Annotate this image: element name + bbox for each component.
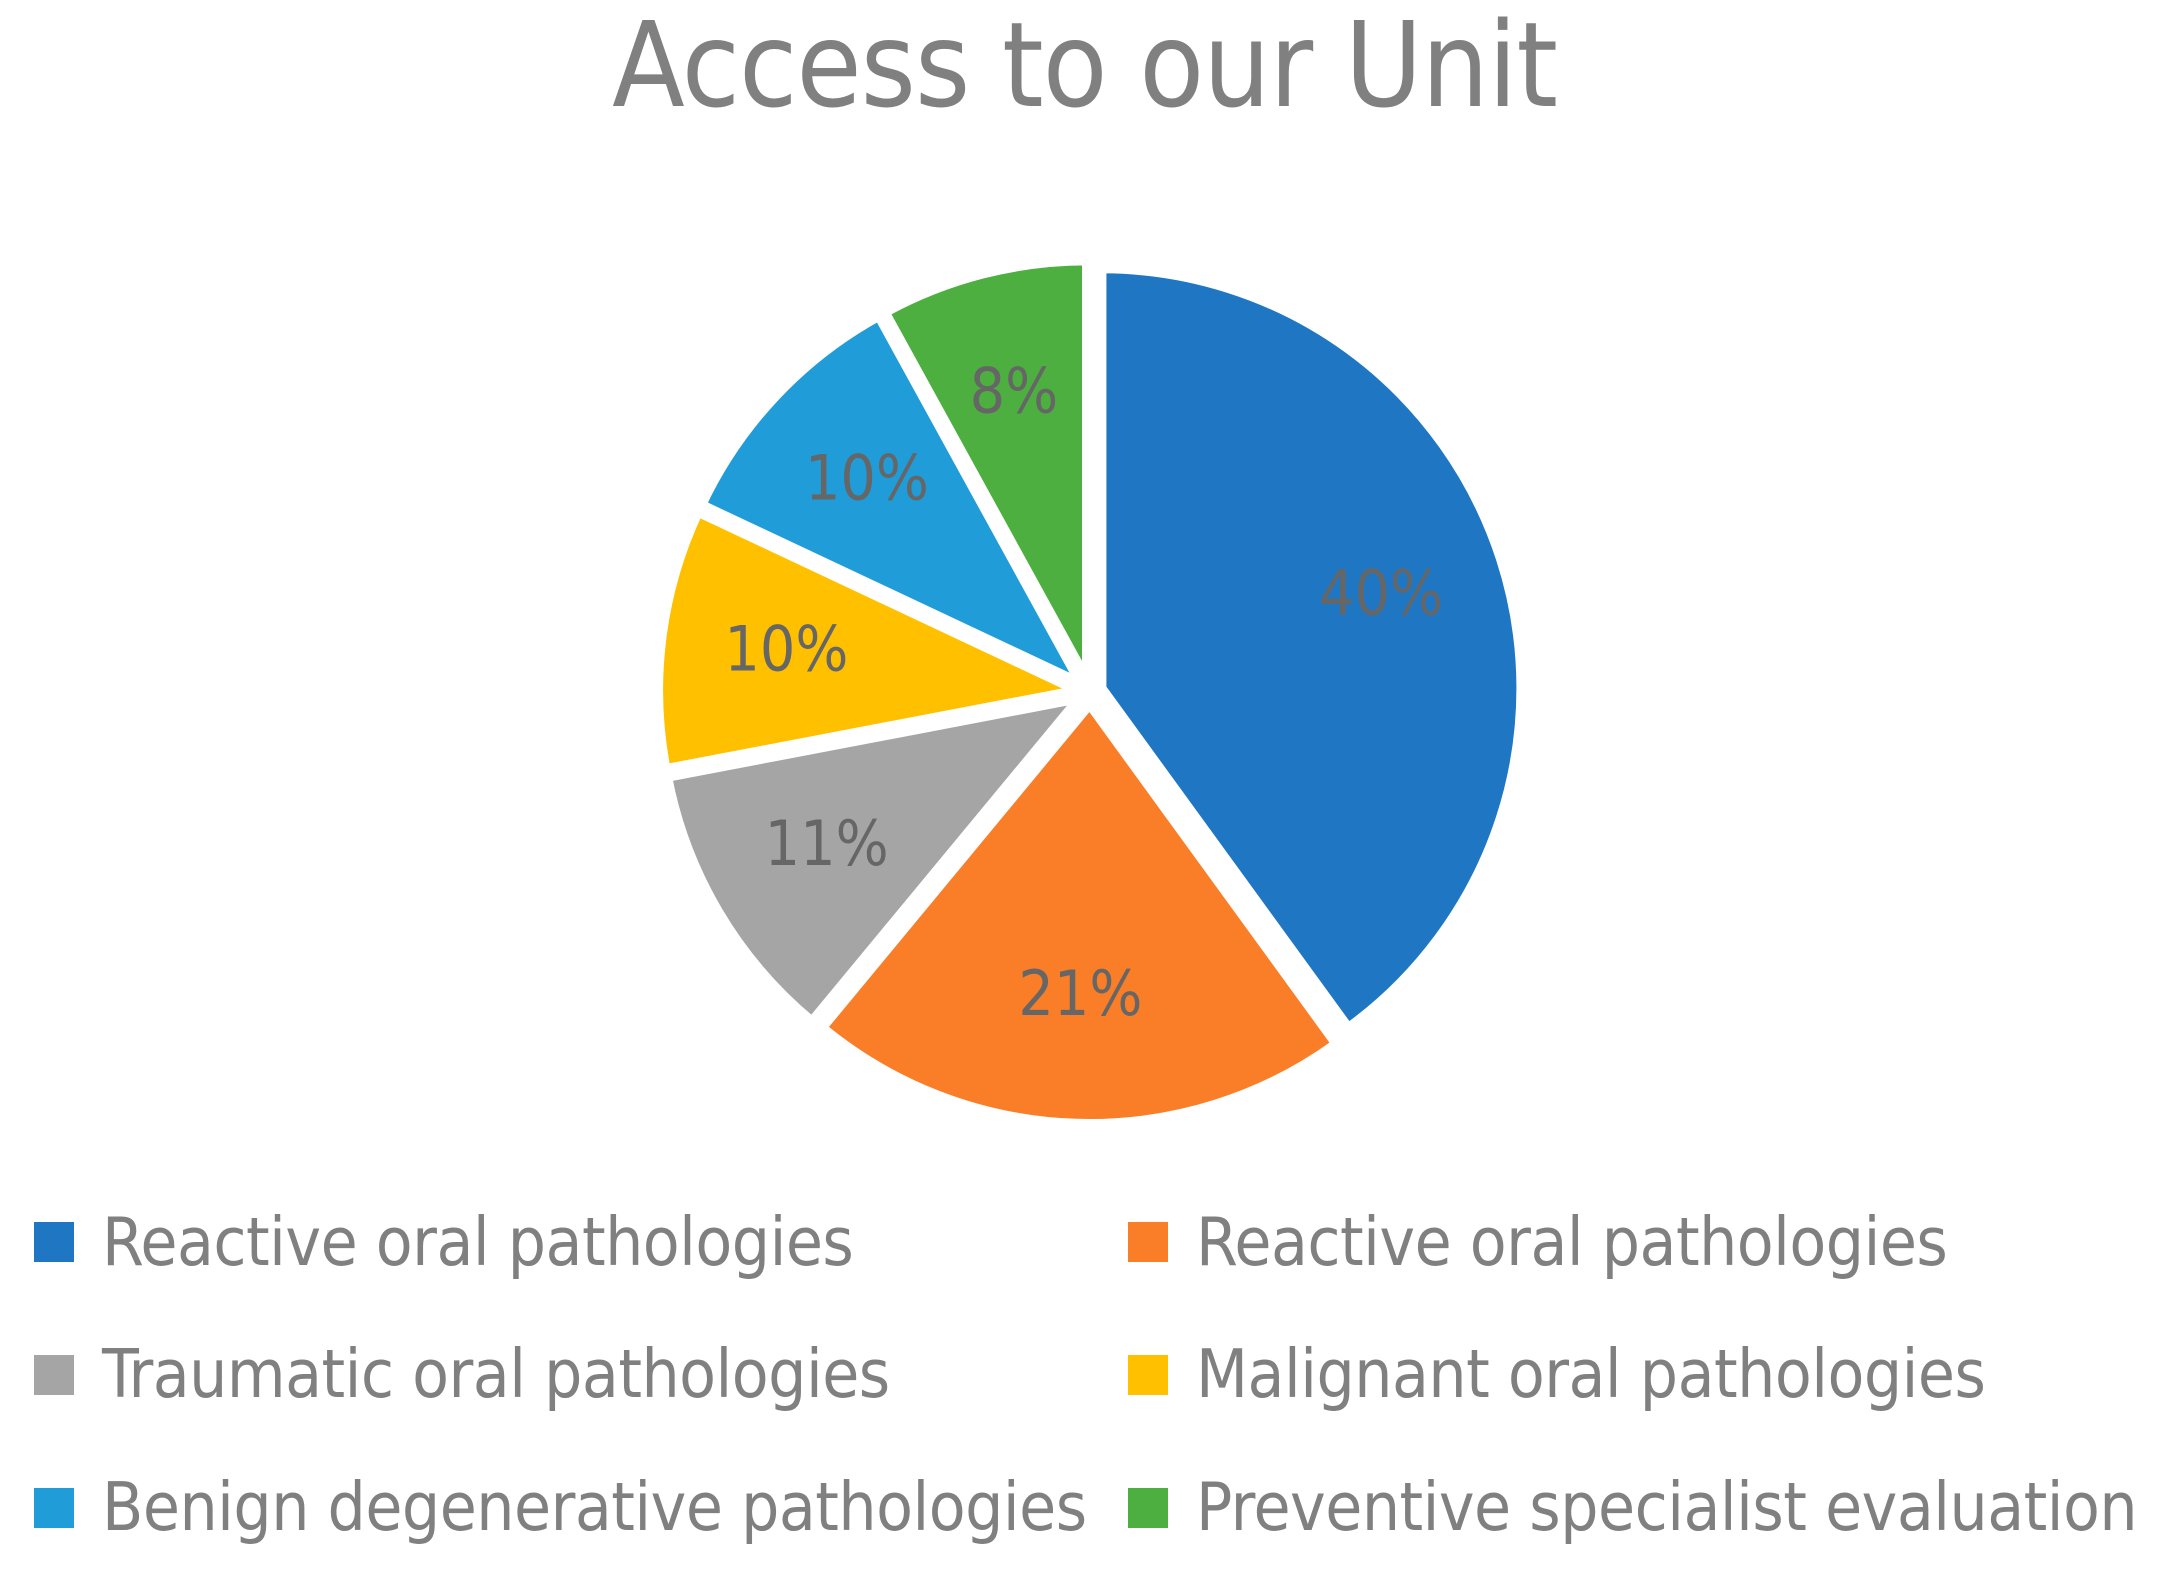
pie-chart: 40%21%11%10%10%8% bbox=[620, 222, 1560, 1162]
legend-item-benign-degenerative[interactable]: Benign degenerative pathologies bbox=[0, 1474, 1110, 1541]
legend-swatch-gray bbox=[34, 1355, 74, 1395]
legend-item-label: Benign degenerative pathologies bbox=[102, 1474, 1087, 1541]
legend: Reactive oral pathologies Reactive oral … bbox=[0, 1176, 2169, 1574]
legend-item-label: Reactive oral pathologies bbox=[1196, 1209, 1947, 1276]
pie-slice-label: 10% bbox=[724, 613, 848, 686]
legend-item-reactive-blue[interactable]: Reactive oral pathologies bbox=[0, 1209, 1110, 1276]
legend-item-reactive-orange[interactable]: Reactive oral pathologies bbox=[1110, 1209, 2169, 1276]
legend-item-label: Malignant oral pathologies bbox=[1196, 1341, 1985, 1408]
pie-slice-label: 8% bbox=[970, 355, 1059, 428]
legend-swatch-green bbox=[1128, 1488, 1168, 1528]
legend-item-traumatic[interactable]: Traumatic oral pathologies bbox=[0, 1341, 1110, 1408]
legend-item-label: Reactive oral pathologies bbox=[102, 1209, 853, 1276]
legend-swatch-blue bbox=[34, 1222, 74, 1262]
legend-item-preventive-evaluation[interactable]: Preventive specialist evaluation bbox=[1110, 1474, 2169, 1541]
pie-slice-label: 40% bbox=[1319, 557, 1443, 630]
pie-slice-label: 21% bbox=[1018, 957, 1142, 1030]
pie-chart-page: Access to our Unit 40%21%11%10%10%8% Rea… bbox=[0, 0, 2169, 1574]
pie-slice-label: 11% bbox=[765, 807, 889, 880]
pie-chart-svg: 40%21%11%10%10%8% bbox=[620, 222, 1560, 1162]
legend-item-label: Traumatic oral pathologies bbox=[102, 1341, 890, 1408]
legend-swatch-orange bbox=[1128, 1222, 1168, 1262]
legend-item-label: Preventive specialist evaluation bbox=[1196, 1474, 2137, 1541]
page-title: Access to our Unit bbox=[0, 6, 2169, 124]
legend-swatch-light-blue bbox=[34, 1488, 74, 1528]
pie-slice-label: 10% bbox=[805, 442, 929, 515]
legend-swatch-yellow bbox=[1128, 1355, 1168, 1395]
legend-item-malignant[interactable]: Malignant oral pathologies bbox=[1110, 1341, 2169, 1408]
